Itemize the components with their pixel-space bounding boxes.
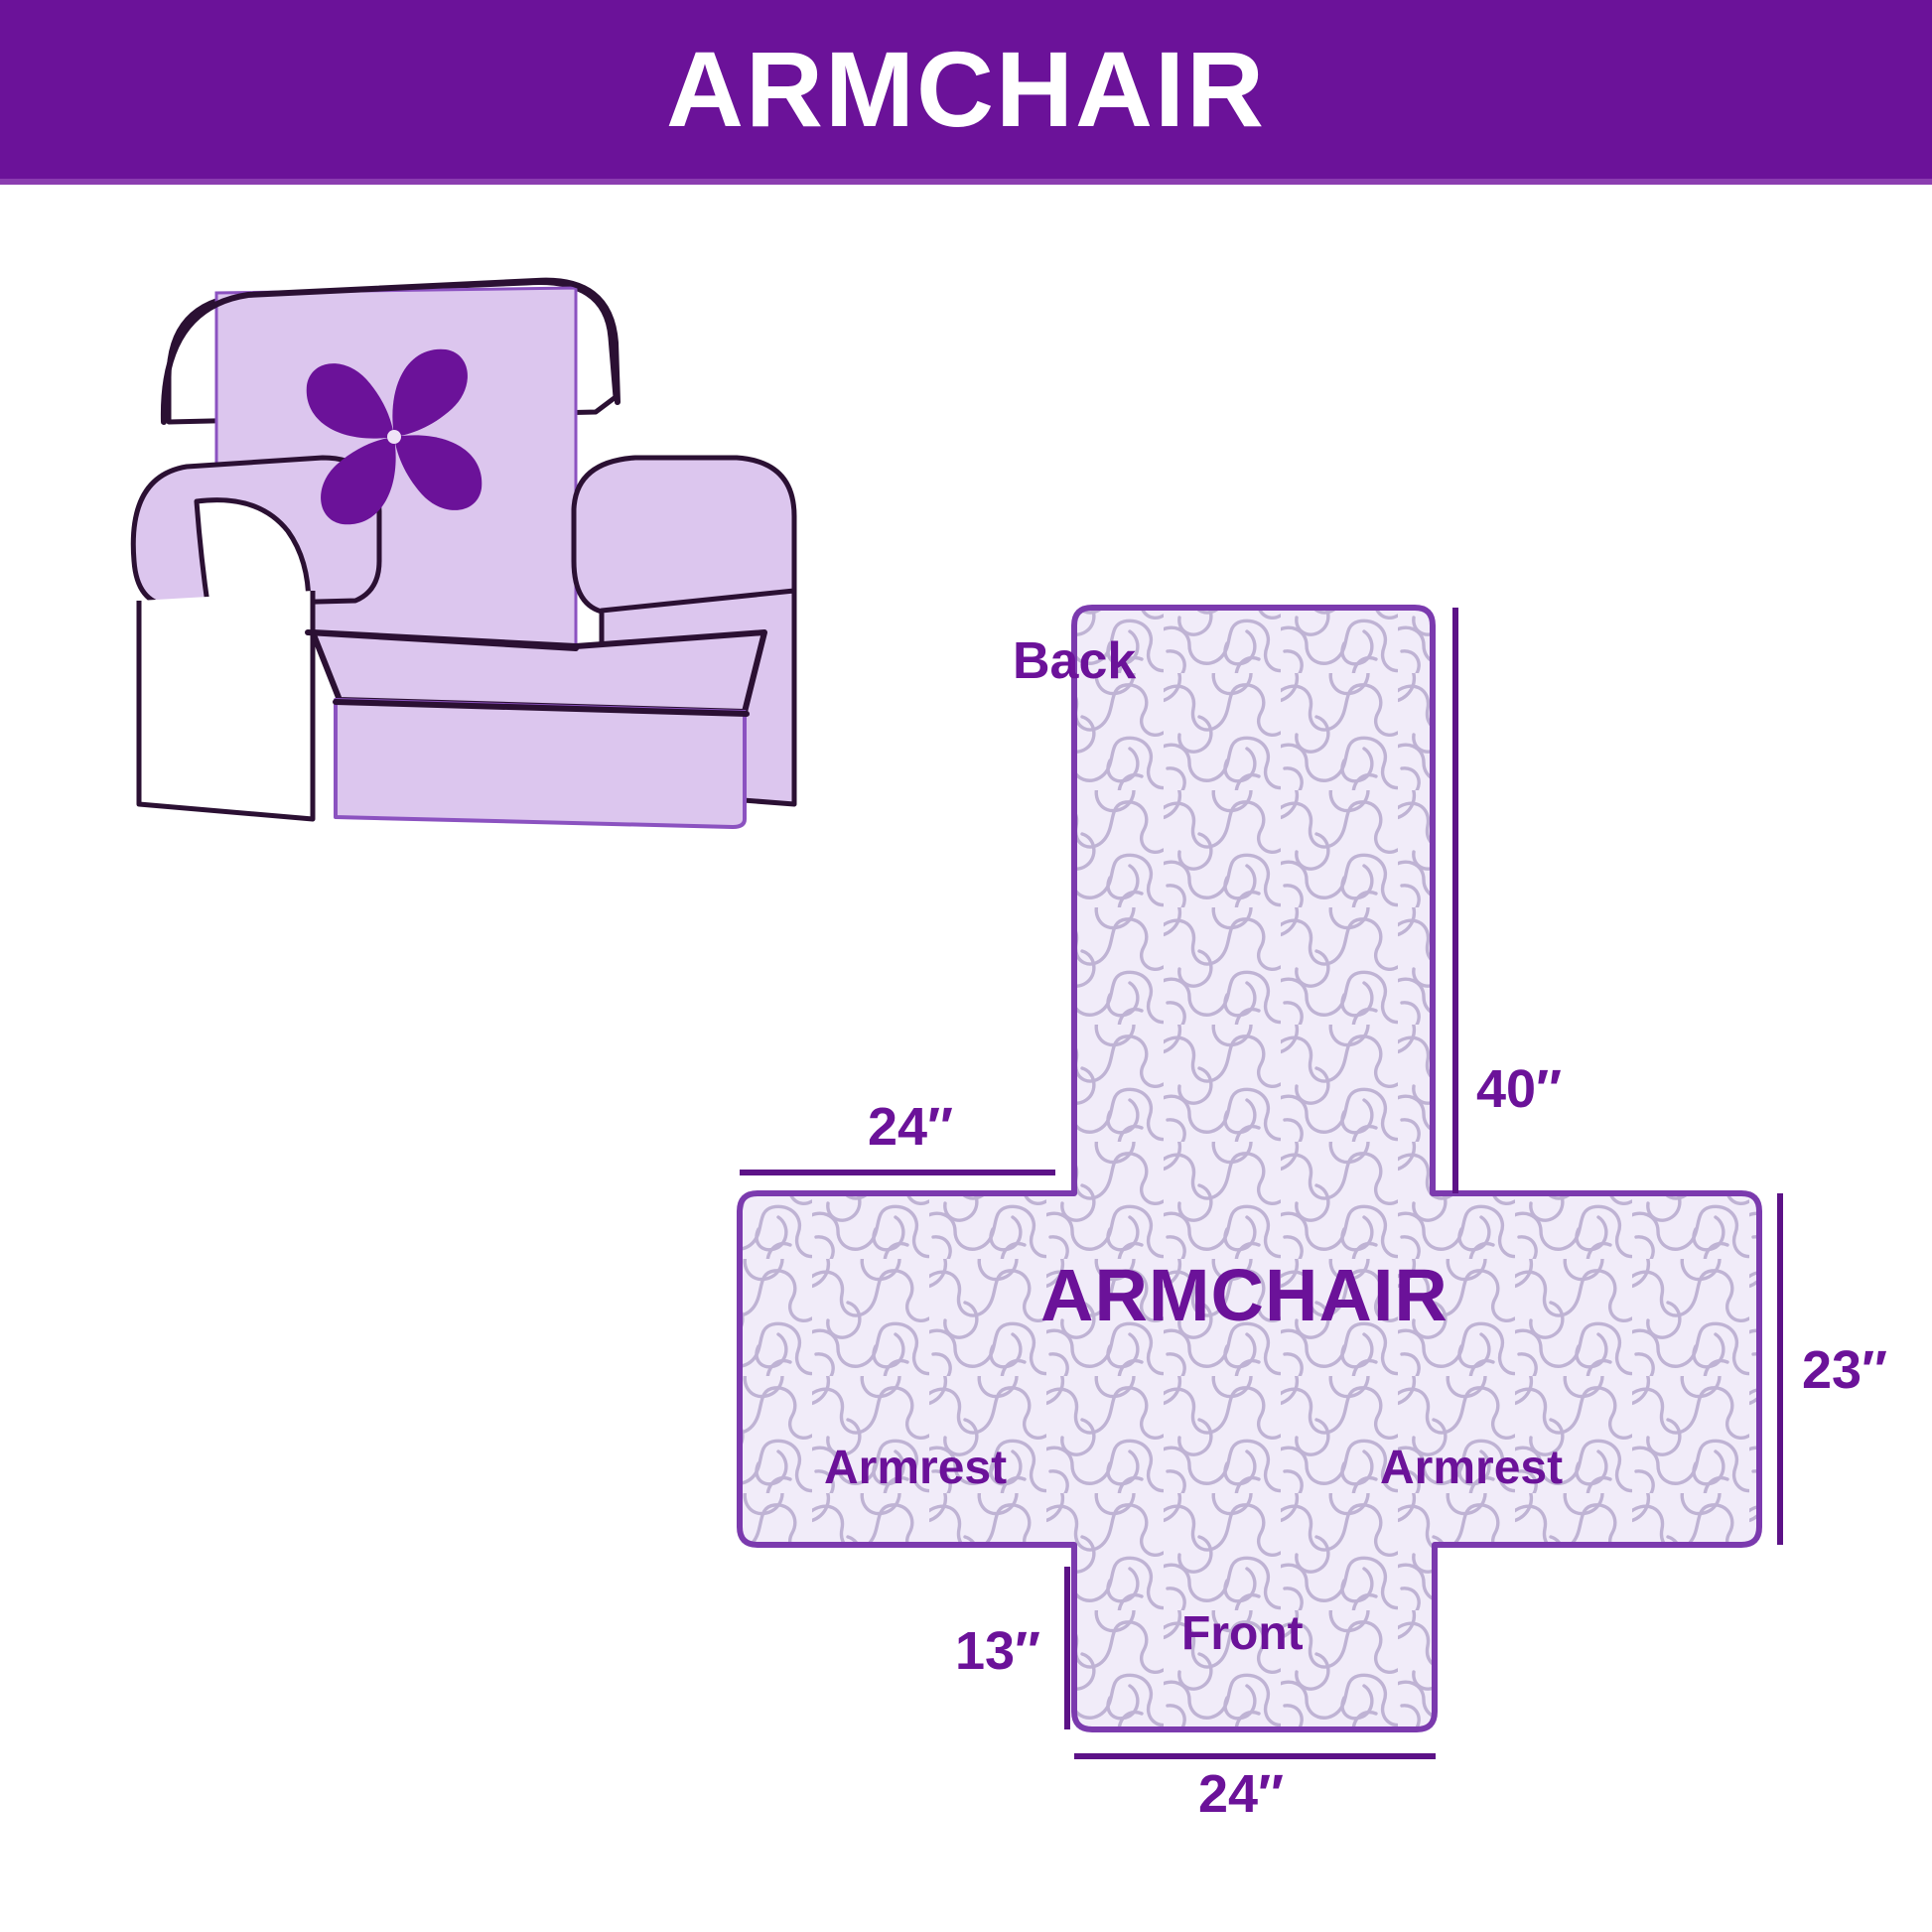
panel-label-armrest-right: Armrest [1380,1445,1563,1492]
cross-pattern-outline [740,608,1759,1729]
chair-front-skirt [336,700,745,827]
dimension-label-front-width: 24″ [1198,1767,1284,1821]
dimension-label-back-height: 40″ [1476,1062,1562,1116]
page-title: ARMCHAIR [666,36,1266,143]
dimension-line-armrest-depth [1777,1193,1783,1545]
panel-label-back: Back [1013,635,1136,687]
dimension-label-armrest-depth: 23″ [1802,1343,1887,1397]
panel-label-front: Front [1181,1610,1304,1658]
dimension-line-back-width [740,1170,1055,1175]
header-banner: ARMCHAIR [0,0,1932,179]
dimension-line-back-height [1452,608,1458,1193]
panel-label-center: ARMCHAIR [1040,1259,1449,1332]
cross-pattern-svg [695,556,1932,1866]
dimension-label-back-width: 24″ [868,1100,953,1154]
dimension-line-front-height [1064,1567,1070,1729]
chair-left-skirt [139,591,313,819]
slipcover-pattern-diagram [695,556,1932,1866]
panel-label-armrest-left: Armrest [824,1445,1007,1492]
banner-bottom-edge [0,179,1932,185]
dimension-label-front-height: 13″ [955,1624,1040,1678]
product-dimension-infographic: ARMCHAIR [0,0,1932,1932]
dimension-line-front-width [1074,1753,1436,1759]
